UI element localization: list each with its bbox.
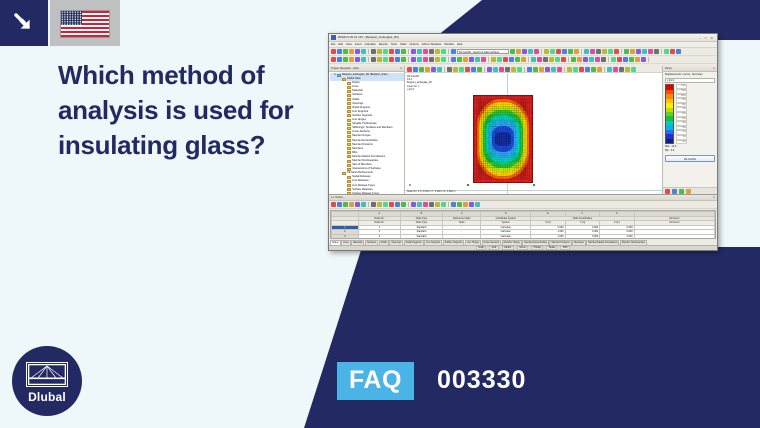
toolbar-button-icon[interactable] [451, 49, 456, 54]
toolbar-separator [448, 202, 449, 207]
status-cell-osnap[interactable]: OSnap [531, 246, 543, 250]
toolbar-button-icon[interactable] [585, 67, 590, 72]
toolbar-button-icon[interactable] [670, 49, 675, 54]
table-cell-y[interactable]: 0.000 [565, 234, 599, 239]
toolbar-button-icon[interactable] [457, 57, 462, 62]
folder-icon [347, 106, 351, 109]
toolbar-button-icon[interactable] [619, 67, 624, 72]
rf-glass-button[interactable]: RF-GLASS [665, 155, 715, 162]
table-tab-member-nonlinearities[interactable]: Member Nonlinearities [620, 240, 647, 245]
legend-max-row: Max : 12.0 [665, 145, 715, 148]
toolbar-button-icon[interactable] [469, 202, 474, 207]
toolbar-button-icon[interactable] [528, 49, 533, 54]
legend-close-icon[interactable]: ✕ [713, 66, 715, 71]
toolbar-button-icon[interactable] [383, 57, 388, 62]
toolbar-button-icon[interactable] [463, 57, 468, 62]
faq-number: 003330 [437, 362, 526, 400]
menu-item-file[interactable]: File [331, 43, 335, 46]
toolbar-button-icon[interactable] [423, 202, 428, 207]
rfem-application-window[interactable]: RFEM 5.20.01 x64 - [Beispiel_Isolierglas… [328, 33, 718, 251]
toolbar-button-icon[interactable] [371, 49, 376, 54]
page-title: Which method of analysis is used for ins… [58, 58, 318, 163]
origin-symbol [409, 184, 411, 186]
table-tab-solids[interactable]: Solids [379, 240, 389, 245]
toolbar-separator [568, 57, 569, 62]
toolbar-button-icon[interactable] [451, 57, 456, 62]
toolbar-button-icon[interactable] [531, 57, 536, 62]
toolbar-button-icon[interactable] [679, 189, 684, 194]
folder-icon [347, 147, 351, 150]
toolbar-button-icon[interactable] [377, 57, 382, 62]
table-tab-member-elastic-foundations[interactable]: Member Elastic Foundations [586, 240, 619, 245]
toolbar-button-icon[interactable] [349, 202, 354, 207]
toolbar-button-icon[interactable] [437, 67, 442, 72]
toolbar-separator [488, 57, 489, 62]
toolbar-button-icon[interactable] [574, 49, 579, 54]
toolbar-button-icon[interactable] [515, 57, 520, 62]
toolbar-button-icon[interactable] [361, 202, 366, 207]
toolbar-separator [448, 49, 449, 54]
toolbar-button-icon[interactable] [411, 202, 416, 207]
toolbar-separator [528, 57, 529, 62]
toolbar-button-icon[interactable] [583, 57, 588, 62]
maximize-button[interactable]: □ [705, 36, 707, 40]
toolbar-button-icon[interactable] [539, 67, 544, 72]
menu-item-help[interactable]: Help [457, 43, 463, 46]
toolbar-button-icon[interactable] [648, 49, 653, 54]
close-button[interactable]: ✕ [710, 36, 713, 40]
table-tab-surface-supports[interactable]: Surface Supports [443, 240, 465, 245]
legend-min-label: Min : [665, 149, 670, 152]
toolbar-button-icon[interactable] [630, 49, 635, 54]
toolbar-button-icon[interactable] [331, 49, 336, 54]
toolbar-button-icon[interactable] [596, 49, 601, 54]
glass-surface-contour-plot[interactable] [473, 95, 533, 183]
toolbar-button-icon[interactable] [614, 49, 619, 54]
viewport-info-line: u [mm] [407, 88, 432, 91]
toolbar-button-icon[interactable] [516, 49, 521, 54]
toolbar-button-icon[interactable] [562, 49, 567, 54]
color-scale-ticks: 12.011.010.09.08.07.06.05.04.03.02.01.00… [676, 84, 687, 144]
legend-title: Panel [665, 66, 672, 71]
table-row[interactable]: 33Standard-Cartesian1.0000.000-1.500 [332, 234, 715, 239]
toolbar-button-icon[interactable] [429, 49, 434, 54]
toolbar-button-icon[interactable] [641, 57, 646, 62]
addon-module-select[interactable]: RF-GLASS - Design of glass surfaces [457, 49, 509, 54]
navigator-tree[interactable]: ⊟Beispiel_Isolierglas_3D (Beispiel_Glas)… [329, 72, 404, 194]
toolbar-button-icon[interactable] [429, 202, 434, 207]
toolbar-button-icon[interactable] [389, 57, 394, 62]
toolbar-separator [408, 49, 409, 54]
toolbar-button-icon[interactable] [383, 49, 388, 54]
window-title: RFEM 5.20.01 x64 - [Beispiel_Isolierglas… [338, 36, 399, 39]
folder-icon [347, 114, 351, 117]
table-tab-member-divisions[interactable]: Member Divisions [549, 240, 571, 245]
legend-body: Displacements u [mm] - Summary u [mm] 12… [663, 72, 717, 187]
support-symbol [533, 184, 535, 186]
toolbar-button-icon[interactable] [451, 202, 456, 207]
toolbar-button-icon[interactable] [349, 57, 354, 62]
toolbar-button-icon[interactable] [624, 49, 629, 54]
menu-item-view[interactable]: View [346, 43, 352, 46]
toolbar-button-icon[interactable] [493, 67, 498, 72]
status-cell-snap[interactable]: Snap [476, 246, 486, 250]
toolbar-button-icon[interactable] [545, 67, 550, 72]
toolbar-button-icon[interactable] [579, 67, 584, 72]
toolbar-button-icon[interactable] [584, 49, 589, 54]
toolbar-button-icon[interactable] [534, 49, 539, 54]
folder-icon [337, 74, 341, 77]
folder-icon [347, 160, 351, 163]
table-cell-comment[interactable] [634, 234, 714, 239]
toolbar-button-icon[interactable] [617, 57, 622, 62]
toolbar-button-icon[interactable] [642, 49, 647, 54]
folder-icon [347, 164, 351, 167]
folder-icon [347, 143, 351, 146]
toolbar-button-icon[interactable] [509, 57, 514, 62]
toolbar-button-icon[interactable] [568, 49, 573, 54]
status-bar[interactable]: SnapGridCartes.GLineOSnapGuideDXF [329, 245, 717, 250]
table-tab-members[interactable]: Members [572, 240, 586, 245]
toolbar-button-icon[interactable] [590, 49, 595, 54]
toolbar-button-icon[interactable] [487, 67, 492, 72]
faq-badge: FAQ [337, 362, 414, 400]
menu-item-options[interactable]: Options [409, 43, 418, 46]
status-cell-dxf[interactable]: DXF [560, 246, 570, 250]
secondary-toolbar[interactable] [329, 56, 717, 64]
toolbar-button-icon[interactable] [608, 49, 613, 54]
toolbar-button-icon[interactable] [425, 67, 430, 72]
toolbar-button-icon[interactable] [611, 57, 616, 62]
toolbar-button-icon[interactable] [413, 67, 418, 72]
toolbar-button-icon[interactable] [343, 49, 348, 54]
menu-item-tools[interactable]: Tools [391, 43, 397, 46]
table-cell-sys[interactable]: Cartesian [481, 234, 531, 239]
toolbar-button-icon[interactable] [349, 49, 354, 54]
table-title: 1.1 Nodes [331, 195, 343, 200]
toolbar-button-icon[interactable] [395, 57, 400, 62]
table-body: 11Standard-Cartesian0.0000.0000.00022Sta… [332, 225, 715, 239]
toolbar-button-icon[interactable] [343, 57, 348, 62]
toolbar-button-icon[interactable] [465, 67, 470, 72]
toolbar-button-icon[interactable] [469, 57, 474, 62]
toolbar-button-icon[interactable] [511, 67, 516, 72]
table-panel[interactable]: 1.1 Nodes ✕ ABCDEFG Node No.Node TypeRef… [329, 194, 717, 250]
folder-icon [347, 90, 351, 93]
status-cell-gline[interactable]: GLine [517, 246, 528, 250]
folder-icon [347, 139, 351, 142]
window-titlebar[interactable]: RFEM 5.20.01 x64 - [Beispiel_Isolierglas… [329, 34, 717, 42]
toolbar-button-icon[interactable] [550, 49, 555, 54]
navigator-close-icon[interactable]: ✕ [400, 66, 402, 71]
toolbar-button-icon[interactable] [431, 67, 436, 72]
folder-icon [347, 155, 351, 158]
table-cell-type[interactable]: Standard [400, 234, 442, 239]
toolbar-button-icon[interactable] [631, 67, 636, 72]
folder-icon [347, 184, 351, 187]
toolbar-button-icon[interactable] [377, 49, 382, 54]
toolbar-button-icon[interactable] [510, 49, 515, 54]
menu-item-window[interactable]: Window [444, 43, 454, 46]
toolbar-button-icon[interactable] [491, 57, 496, 62]
toolbar-separator [648, 57, 649, 62]
folder-icon [347, 131, 351, 134]
table-tab-nodes[interactable]: Nodes [330, 240, 341, 245]
headline-line-3: insulating glass? [58, 128, 318, 163]
toolbar-button-icon[interactable] [471, 67, 476, 72]
toolbar-button-icon[interactable] [517, 67, 522, 72]
arrow-down-right-icon[interactable] [0, 0, 48, 46]
toolbar-button-icon[interactable] [597, 67, 602, 72]
folder-icon [347, 119, 351, 122]
table-tab-line-hinges[interactable]: Line Hinges [465, 240, 481, 245]
table-tab-materials[interactable]: Materials [351, 240, 364, 245]
toolbar-button-icon[interactable] [453, 67, 458, 72]
table-cell-x[interactable]: 1.000 [531, 234, 565, 239]
toolbar-button-icon[interactable] [475, 57, 480, 62]
toolbar-separator [368, 57, 369, 62]
toolbar-button-icon[interactable] [607, 67, 612, 72]
legend-footer-toolbar[interactable] [663, 187, 717, 194]
toolbar-button-icon[interactable] [676, 49, 681, 54]
folder-icon [347, 180, 351, 183]
toolbar-button-icon[interactable] [337, 57, 342, 62]
table-toolbar[interactable] [329, 201, 717, 209]
legend-max-label: Max : [665, 145, 671, 148]
toolbar-separator [621, 49, 622, 54]
table-tab-member-hinges[interactable]: Member Hinges [502, 240, 522, 245]
toolbar-button-icon[interactable] [401, 202, 406, 207]
toolbar-button-icon[interactable] [625, 67, 630, 72]
toolbar-button-icon[interactable] [441, 49, 446, 54]
legend-min-value: 0.0 [671, 149, 674, 152]
toolbar-button-icon[interactable] [447, 67, 452, 72]
table-cell-z[interactable]: -1.500 [600, 234, 634, 239]
viewport-info-text: RF-GLASSCA 1Beispiel_Isolierglas_3DLayer… [407, 75, 432, 91]
toolbar-button-icon[interactable] [441, 202, 446, 207]
window-controls[interactable]: – □ ✕ [699, 36, 715, 40]
app-body: Project Navigator - Data ✕ ⊟Beispiel_Iso… [329, 66, 717, 194]
toolbar-separator [368, 49, 369, 54]
toolbar-button-icon[interactable] [435, 57, 440, 62]
toolbar-button-icon[interactable] [407, 67, 412, 72]
color-scale-bar [665, 84, 674, 144]
folder-icon [347, 135, 351, 138]
toolbar-button-icon[interactable] [537, 57, 542, 62]
toolbar-button-icon[interactable] [522, 49, 527, 54]
toolbar-button-icon[interactable] [383, 202, 388, 207]
project-navigator[interactable]: Project Navigator - Data ✕ ⊟Beispiel_Iso… [329, 66, 405, 194]
table-cell-ref[interactable]: - [443, 234, 481, 239]
toolbar-button-icon[interactable] [423, 49, 428, 54]
toolbar-button-icon[interactable] [629, 57, 634, 62]
table-tab-lines[interactable]: Lines [341, 240, 351, 245]
toolbar-button-icon[interactable] [401, 49, 406, 54]
toolbar-button-icon[interactable] [463, 202, 468, 207]
toolbar-button-icon[interactable] [361, 57, 366, 62]
toolbar-button-icon[interactable] [361, 49, 366, 54]
menu-item-table[interactable]: Table [400, 43, 406, 46]
toolbar-button-icon[interactable] [331, 202, 336, 207]
status-cell-guide[interactable]: Guide [546, 246, 557, 250]
toolbar-button-icon[interactable] [549, 57, 554, 62]
menu-item-insert[interactable]: Insert [355, 43, 362, 46]
toolbar-separator [408, 57, 409, 62]
legend-color-scale: 12.011.010.09.08.07.06.05.04.03.02.01.00… [665, 84, 715, 144]
toolbar-button-icon[interactable] [672, 189, 677, 194]
toolbar-separator [604, 67, 605, 72]
navigator-title: Project Navigator - Data [331, 66, 359, 71]
view-toolbar[interactable] [405, 66, 662, 73]
toolbar-button-icon[interactable] [595, 57, 600, 62]
toolbar-button-icon[interactable] [555, 57, 560, 62]
toolbar-button-icon[interactable] [556, 49, 561, 54]
toolbar-button-icon[interactable] [561, 57, 566, 62]
toolbar-button-icon[interactable] [337, 49, 342, 54]
folder-icon [347, 127, 351, 130]
main-toolbar[interactable]: RF-GLASS - Design of glass surfaces [329, 48, 717, 56]
toolbar-button-icon[interactable] [571, 57, 576, 62]
toolbar-button-icon[interactable] [602, 49, 607, 54]
toolbar-button-icon[interactable] [389, 49, 394, 54]
toolbar-button-icon[interactable] [395, 49, 400, 54]
toolbar-button-icon[interactable] [441, 57, 446, 62]
toolbar-button-icon[interactable] [419, 67, 424, 72]
model-viewport[interactable]: RF-GLASSCA 1Beispiel_Isolierglas_3DLayer… [405, 66, 663, 194]
headline-line-2: analysis is used for [58, 93, 318, 128]
toolbar-button-icon[interactable] [337, 202, 342, 207]
toolbar-separator [541, 49, 542, 54]
color-scale-tick-label: 0.0 [676, 140, 687, 145]
toolbar-button-icon[interactable] [567, 67, 572, 72]
toolbar-button-icon[interactable] [355, 202, 360, 207]
toolbar-button-icon[interactable] [533, 67, 538, 72]
toolbar-separator [484, 67, 485, 72]
toolbar-button-icon[interactable] [544, 49, 549, 54]
toolbar-button-icon[interactable] [497, 57, 502, 62]
toolbar-button-icon[interactable] [589, 57, 594, 62]
toolbar-button-icon[interactable] [435, 49, 440, 54]
us-flag-icon [61, 11, 109, 37]
toolbar-button-icon[interactable] [635, 57, 640, 62]
toolbar-button-icon[interactable] [435, 202, 440, 207]
toolbar-button-icon[interactable] [664, 49, 669, 54]
toolbar-button-icon[interactable] [457, 202, 462, 207]
toolbar-button-icon[interactable] [355, 57, 360, 62]
toolbar-button-icon[interactable] [557, 67, 562, 72]
toolbar-button-icon[interactable] [551, 67, 556, 72]
table-tab-line-supports[interactable]: Line Supports [424, 240, 442, 245]
toolbar-separator [444, 67, 445, 72]
toolbar-button-icon[interactable] [527, 67, 532, 72]
folder-icon [347, 188, 351, 191]
toolbar-button-icon[interactable] [401, 57, 406, 62]
folder-icon [347, 94, 351, 97]
toolbar-button-icon[interactable] [654, 49, 659, 54]
toolbar-button-icon[interactable] [371, 57, 376, 62]
toolbar-button-icon[interactable] [417, 57, 422, 62]
toolbar-button-icon[interactable] [505, 67, 510, 72]
toolbar-button-icon[interactable] [389, 202, 394, 207]
minimize-button[interactable]: – [699, 36, 701, 40]
status-cell-cartes-[interactable]: Cartes. [502, 246, 514, 250]
legend-min-row: Min : 0.0 [665, 149, 715, 152]
toolbar-button-icon[interactable] [521, 57, 526, 62]
app-icon [331, 35, 336, 40]
toolbar-separator [368, 202, 369, 207]
folder-icon [347, 123, 351, 126]
toolbar-button-icon[interactable] [686, 189, 691, 194]
toolbar-button-icon[interactable] [613, 67, 618, 72]
dlubal-logo[interactable]: Dlubal [12, 346, 82, 416]
toolbar-button-icon[interactable] [543, 57, 548, 62]
toolbar-button-icon[interactable] [331, 57, 336, 62]
table-row-header[interactable]: 3 [332, 234, 359, 239]
toolbar-button-icon[interactable] [411, 57, 416, 62]
results-legend-panel[interactable]: Panel ✕ Displacements u [mm] - Summary u… [663, 66, 717, 194]
table-tab-surfaces[interactable]: Surfaces [365, 240, 378, 245]
toolbar-button-icon[interactable] [475, 202, 480, 207]
toolbar-button-icon[interactable] [355, 49, 360, 54]
toolbar-button-icon[interactable] [573, 67, 578, 72]
table-tab-member-eccentricities[interactable]: Member Eccentricities [522, 240, 549, 245]
menu-item-add-on-modules[interactable]: Add-on Modules [422, 43, 442, 46]
toolbar-button-icon[interactable] [417, 202, 422, 207]
toolbar-button-icon[interactable] [503, 57, 508, 62]
toolbar-button-icon[interactable] [499, 67, 504, 72]
menu-item-results[interactable]: Results [379, 43, 388, 46]
slide-canvas: Which method of analysis is used for ins… [0, 0, 760, 428]
menu-item-calculate[interactable]: Calculate [365, 43, 376, 46]
toolbar-button-icon[interactable] [577, 57, 582, 62]
toolbar-button-icon[interactable] [623, 57, 628, 62]
toolbar-button-icon[interactable] [429, 57, 434, 62]
nodes-table[interactable]: ABCDEFG Node No.Node TypeReference NodeC… [330, 210, 716, 239]
folder-icon [347, 102, 351, 105]
toolbar-button-icon[interactable] [423, 57, 428, 62]
toolbar-button-icon[interactable] [459, 67, 464, 72]
toolbar-button-icon[interactable] [665, 189, 670, 194]
toolbar-button-icon[interactable] [343, 202, 348, 207]
toolbar-button-icon[interactable] [591, 67, 596, 72]
table-tab-cross-sections[interactable]: Cross-Sections [482, 240, 502, 245]
toolbar-separator [581, 49, 582, 54]
folder-icon [347, 86, 351, 89]
viewport-status-text: Node No. 3 X: 0.000 m Y: 0.000 m Z: 0.00… [407, 190, 455, 193]
table-tab-nodal-supports[interactable]: Nodal Supports [404, 240, 424, 245]
toolbar-button-icon[interactable] [477, 67, 482, 72]
toolbar-button-icon[interactable] [481, 57, 486, 62]
table-cell-no[interactable]: 3 [358, 234, 400, 239]
menu-item-edit[interactable]: Edit [338, 43, 343, 46]
toolbar-button-icon[interactable] [371, 202, 376, 207]
toolbar-separator [524, 67, 525, 72]
toolbar-button-icon[interactable] [395, 202, 400, 207]
language-flag-button[interactable] [50, 0, 120, 46]
toolbar-button-icon[interactable] [601, 57, 606, 62]
legend-field-select[interactable]: u [mm] [665, 78, 715, 83]
table-tab-openings[interactable]: Openings [389, 240, 403, 245]
toolbar-button-icon[interactable] [377, 202, 382, 207]
folder-icon [342, 78, 346, 81]
toolbar-button-icon[interactable] [636, 49, 641, 54]
status-cell-grid[interactable]: Grid [489, 246, 498, 250]
table-close-icon[interactable]: ✕ [713, 195, 715, 200]
toolbar-button-icon[interactable] [417, 49, 422, 54]
headline-line-1: Which method of [58, 58, 318, 93]
legend-max-value: 12.0 [672, 145, 677, 148]
toolbar-button-icon[interactable] [411, 49, 416, 54]
